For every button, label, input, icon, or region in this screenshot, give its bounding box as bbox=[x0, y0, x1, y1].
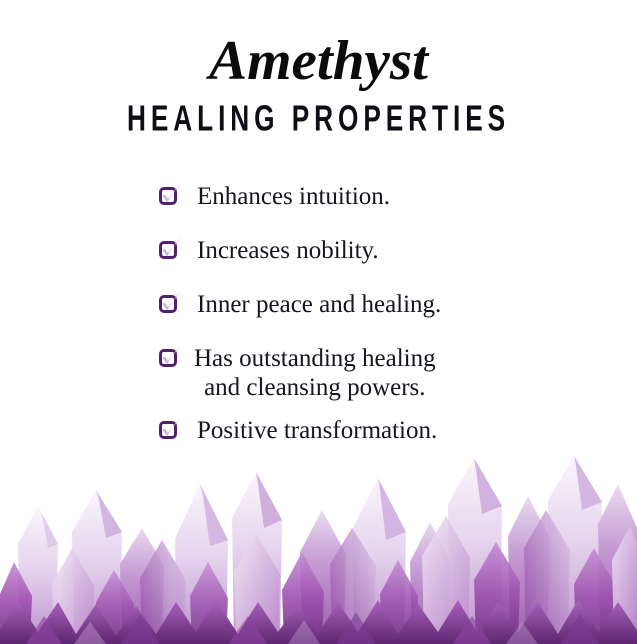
checkbox-box bbox=[159, 295, 177, 313]
list-item: Increases nobility. bbox=[158, 236, 578, 265]
list-item-label: Positive transformation. bbox=[197, 416, 437, 445]
page-title: Amethyst bbox=[0, 30, 637, 92]
list-item-label: Inner peace and healing. bbox=[197, 290, 441, 319]
page-subtitle: HEALING PROPERTIES bbox=[57, 98, 579, 138]
checked-checkbox-icon bbox=[158, 417, 184, 443]
list-item: Has outstanding healing and cleansing po… bbox=[158, 344, 578, 402]
list-item-label: Increases nobility. bbox=[197, 236, 379, 265]
checkbox-box bbox=[159, 349, 177, 367]
checkbox-box bbox=[159, 421, 177, 439]
checked-checkbox-icon bbox=[158, 291, 184, 317]
checked-checkbox-icon bbox=[158, 237, 184, 263]
checked-checkbox-icon bbox=[158, 183, 184, 209]
list-item: Enhances intuition. bbox=[158, 182, 578, 211]
list-item: Inner peace and healing. bbox=[158, 290, 578, 319]
properties-list: Enhances intuition. Increases nobility. … bbox=[158, 182, 578, 470]
list-item: Positive transformation. bbox=[158, 416, 578, 445]
list-item-label: Enhances intuition. bbox=[197, 182, 390, 211]
checkbox-box bbox=[159, 241, 177, 259]
amethyst-crystal-cluster bbox=[0, 444, 637, 644]
checked-checkbox-icon bbox=[158, 345, 184, 371]
amethyst-healing-properties-graphic: Amethyst HEALING PROPERTIES Enhances int… bbox=[0, 0, 637, 644]
list-item-label: Has outstanding healing and cleansing po… bbox=[194, 344, 436, 402]
checkbox-box bbox=[159, 187, 177, 205]
header: Amethyst HEALING PROPERTIES bbox=[0, 30, 637, 134]
